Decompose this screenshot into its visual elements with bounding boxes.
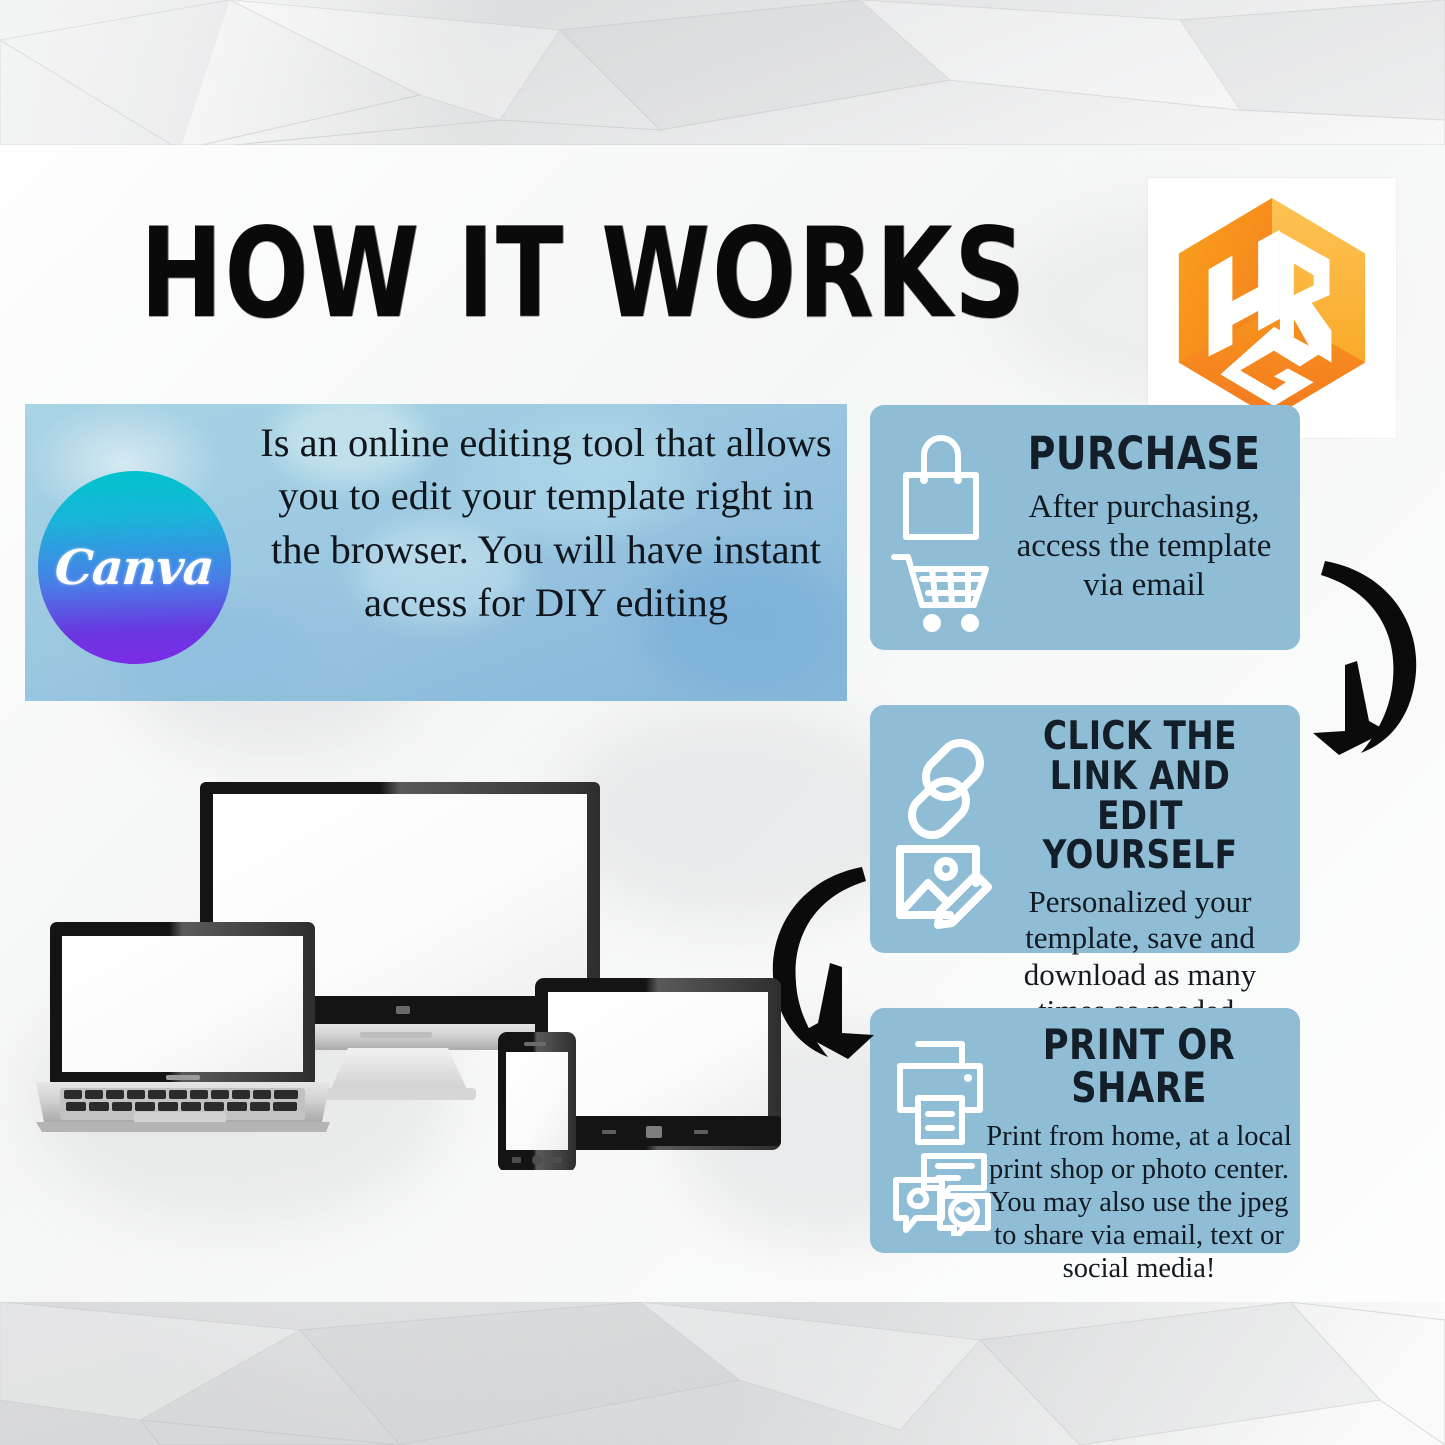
purchase-body: After purchasing, access the template vi… bbox=[998, 488, 1290, 605]
step-card-print-share[interactable]: PRINT OR SHARE Print from home, at a loc… bbox=[870, 1008, 1300, 1253]
smartphone-mockup bbox=[498, 1032, 576, 1170]
purchase-icon-group bbox=[888, 427, 996, 641]
device-mockups bbox=[30, 770, 790, 1170]
canva-wordmark: Canva bbox=[53, 540, 215, 596]
step-card-click-edit[interactable]: CLICK THE LINK AND EDIT YOURSELF Persona… bbox=[870, 705, 1300, 953]
click-edit-heading: CLICK THE LINK AND EDIT YOURSELF bbox=[1014, 717, 1266, 876]
canva-info-banner: Canva Is an online editing tool that all… bbox=[25, 404, 847, 701]
image-edit-icon bbox=[900, 849, 988, 925]
printer-icon bbox=[900, 1044, 980, 1142]
hrg-logo-panel bbox=[1148, 178, 1396, 438]
page-title: HOW IT WORKS bbox=[140, 212, 836, 336]
canva-logo: Canva bbox=[38, 471, 231, 664]
canva-description: Is an online editing tool that allows yo… bbox=[257, 416, 835, 630]
laptop-mockup bbox=[36, 922, 330, 1132]
print-share-icon-group bbox=[888, 1036, 996, 1236]
shopping-bag-icon bbox=[906, 438, 976, 537]
click-edit-icon-group bbox=[888, 733, 996, 933]
hrg-cube-logo bbox=[1163, 192, 1381, 422]
print-share-body: Print from home, at a local print shop o… bbox=[986, 1120, 1292, 1285]
shopping-cart-icon bbox=[894, 557, 986, 632]
step-card-purchase[interactable]: PURCHASE After purchasing, access the te… bbox=[870, 405, 1300, 650]
chat-bubbles-icon bbox=[896, 1156, 988, 1236]
infographic-canvas: HOW IT WORKS bbox=[0, 0, 1445, 1445]
chain-link-icon bbox=[912, 743, 980, 835]
purchase-heading: PURCHASE bbox=[1021, 431, 1266, 477]
arrow-purchase-to-click bbox=[1295, 535, 1445, 760]
print-share-heading: PRINT OR SHARE bbox=[1010, 1024, 1267, 1110]
